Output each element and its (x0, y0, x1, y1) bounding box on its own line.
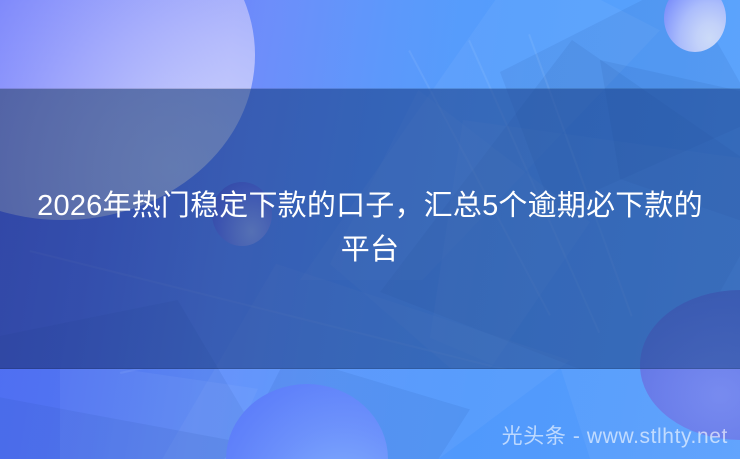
artwork-scene-top (0, 0, 740, 89)
site-watermark: 光头条 - www.stlhty.net (502, 425, 728, 449)
cover-image: 2026年热门稳定下款的口子，汇总5个逾期必下款的平台 光头条 - www.st… (0, 0, 740, 459)
large-left-orb (0, 0, 255, 89)
background-band-top (0, 0, 740, 89)
cover-title: 2026年热门稳定下款的口子，汇总5个逾期必下款的平台 (0, 184, 740, 272)
band-seam (0, 88, 740, 89)
band-seam (0, 368, 740, 369)
